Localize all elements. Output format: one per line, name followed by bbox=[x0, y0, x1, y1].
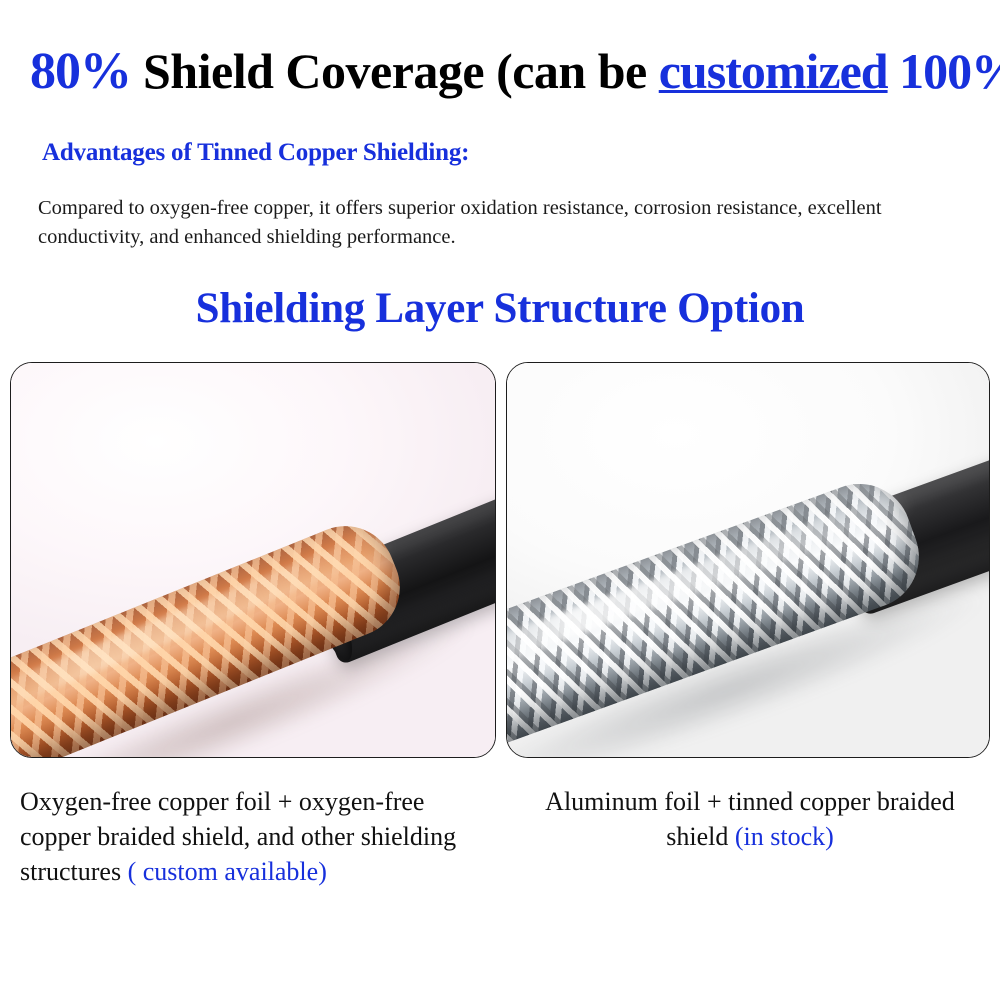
tinned-copper-braid-caption: Aluminum foil + tinned copper braided sh… bbox=[520, 784, 980, 854]
caption-highlight-text: (in stock) bbox=[735, 822, 834, 851]
section-title-shielding-layer: Shielding Layer Structure Option bbox=[0, 283, 1000, 335]
headline-percent-80: 80% bbox=[30, 43, 131, 100]
copper-braid-photo-frame bbox=[10, 362, 496, 758]
headline-customized-group: customized 100% bbox=[659, 43, 1000, 99]
caption-highlight-text: ( custom available) bbox=[128, 857, 327, 886]
headline-customized-word: customized bbox=[659, 43, 888, 99]
advantages-paragraph: Compared to oxygen-free copper, it offer… bbox=[38, 194, 918, 252]
tinned-copper-braid-photo-frame bbox=[506, 362, 990, 758]
tinned-copper-braid-photo bbox=[507, 363, 989, 757]
copper-braid-photo bbox=[11, 363, 495, 757]
page-headline: 80% Shield Coverage (can be customized 1… bbox=[30, 42, 990, 101]
headline-middle-text: Shield Coverage (can be bbox=[131, 43, 659, 99]
copper-braid-caption: Oxygen-free copper foil + oxygen-free co… bbox=[20, 784, 490, 889]
headline-percent-100: 100% bbox=[888, 43, 1000, 99]
advantages-subheading: Advantages of Tinned Copper Shielding: bbox=[42, 138, 469, 168]
infographic-page: 80% Shield Coverage (can be customized 1… bbox=[0, 0, 1000, 1000]
